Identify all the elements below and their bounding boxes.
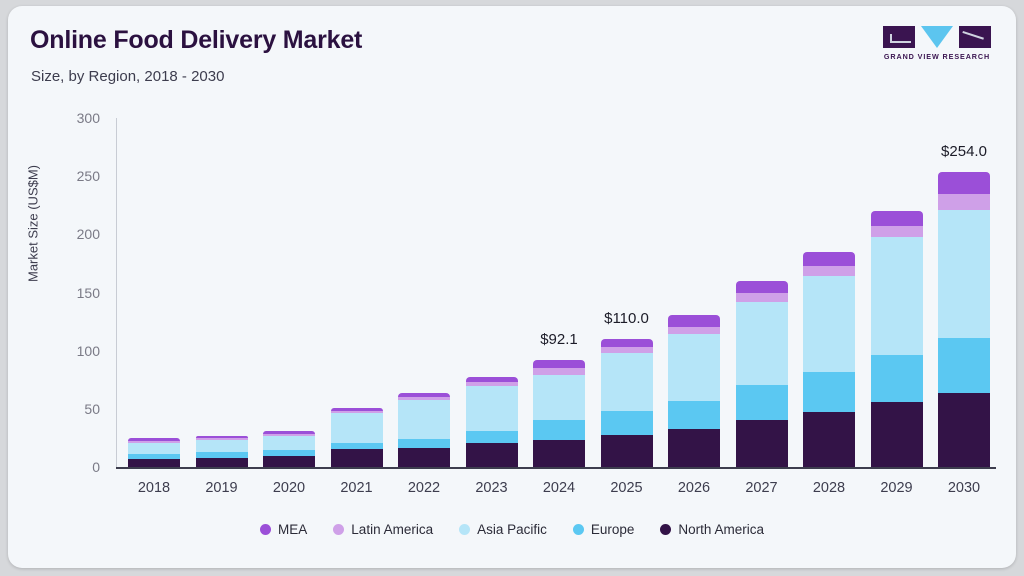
bar-segment-latin-america[interactable] — [803, 266, 855, 276]
y-axis-tick: 250 — [40, 168, 100, 184]
bar-segment-north-america[interactable] — [128, 459, 180, 467]
y-axis-tick: 50 — [40, 401, 100, 417]
legend-label: Europe — [591, 522, 635, 537]
legend-item-asia-pacific[interactable]: Asia Pacific — [459, 522, 547, 537]
bar-stack[interactable] — [601, 6, 653, 467]
bar-stack[interactable] — [736, 6, 788, 467]
bar-segment-mea[interactable] — [331, 408, 383, 411]
bar-segment-north-america[interactable] — [668, 429, 720, 467]
bar-segment-asia-pacific[interactable] — [533, 375, 585, 421]
bar-segment-north-america[interactable] — [601, 435, 653, 467]
x-axis-tick: 2030 — [924, 480, 1004, 496]
bar-segment-north-america[interactable] — [398, 448, 450, 467]
bar-stack[interactable] — [263, 6, 315, 467]
bar-segment-europe[interactable] — [668, 401, 720, 430]
bar-segment-latin-america[interactable] — [601, 347, 653, 353]
bar-stack[interactable] — [398, 6, 450, 467]
legend-label: North America — [678, 522, 764, 537]
bar-segment-asia-pacific[interactable] — [601, 353, 653, 411]
bar-segment-mea[interactable] — [668, 315, 720, 327]
bar-segment-latin-america[interactable] — [871, 226, 923, 237]
bar-segment-asia-pacific[interactable] — [938, 210, 990, 339]
y-axis-line — [116, 118, 117, 467]
bar-segment-europe[interactable] — [331, 443, 383, 449]
legend-swatch-icon — [260, 524, 271, 535]
legend-swatch-icon — [459, 524, 470, 535]
y-axis-tick: 150 — [40, 285, 100, 301]
bar-value-label: $92.1 — [504, 331, 614, 348]
bar-segment-north-america[interactable] — [803, 412, 855, 467]
bar-segment-europe[interactable] — [871, 355, 923, 403]
bar-segment-europe[interactable] — [128, 454, 180, 459]
bar-stack[interactable] — [128, 6, 180, 467]
bar-segment-north-america[interactable] — [263, 456, 315, 467]
bar-segment-latin-america[interactable] — [128, 441, 180, 443]
bar-segment-europe[interactable] — [938, 338, 990, 392]
chart-card: Online Food Delivery Market Size, by Reg… — [8, 6, 1016, 568]
bar-segment-asia-pacific[interactable] — [668, 334, 720, 400]
legend-item-latin-america[interactable]: Latin America — [333, 522, 433, 537]
bar-segment-europe[interactable] — [466, 431, 518, 443]
bar-segment-mea[interactable] — [128, 438, 180, 440]
bar-segment-mea[interactable] — [736, 281, 788, 293]
bar-segment-latin-america[interactable] — [533, 368, 585, 374]
bar-segment-asia-pacific[interactable] — [803, 276, 855, 371]
bar-segment-north-america[interactable] — [736, 420, 788, 467]
bar-segment-mea[interactable] — [466, 377, 518, 382]
bar-segment-asia-pacific[interactable] — [871, 237, 923, 354]
bar-segment-mea[interactable] — [533, 360, 585, 368]
bar-segment-asia-pacific[interactable] — [263, 436, 315, 450]
bar-segment-north-america[interactable] — [331, 449, 383, 467]
bar-segment-latin-america[interactable] — [466, 382, 518, 385]
bar-segment-europe[interactable] — [398, 439, 450, 448]
bar-segment-mea[interactable] — [938, 172, 990, 194]
legend-label: MEA — [278, 522, 307, 537]
bar-segment-north-america[interactable] — [938, 393, 990, 467]
legend-swatch-icon — [573, 524, 584, 535]
bar-segment-asia-pacific[interactable] — [128, 443, 180, 455]
bar-segment-latin-america[interactable] — [196, 438, 248, 440]
legend-label: Asia Pacific — [477, 522, 547, 537]
bar-stack[interactable] — [196, 6, 248, 467]
bar-stack[interactable] — [668, 6, 720, 467]
bar-stack[interactable] — [466, 6, 518, 467]
bar-stack[interactable] — [533, 6, 585, 467]
bar-segment-asia-pacific[interactable] — [736, 302, 788, 385]
bar-chart: Market Size (US$M) 050100150200250300201… — [8, 6, 1016, 568]
bar-segment-europe[interactable] — [601, 411, 653, 435]
bar-segment-europe[interactable] — [803, 372, 855, 412]
y-axis-tick: 0 — [40, 459, 100, 475]
bar-segment-europe[interactable] — [196, 452, 248, 458]
bar-segment-latin-america[interactable] — [331, 411, 383, 413]
bar-segment-europe[interactable] — [263, 450, 315, 456]
legend-item-europe[interactable]: Europe — [573, 522, 635, 537]
bar-segment-asia-pacific[interactable] — [331, 413, 383, 443]
bar-segment-mea[interactable] — [871, 211, 923, 226]
bar-stack[interactable] — [803, 6, 855, 467]
y-axis-label: Market Size (US$M) — [26, 114, 41, 334]
bar-segment-latin-america[interactable] — [263, 434, 315, 436]
bar-segment-latin-america[interactable] — [938, 194, 990, 210]
bar-segment-asia-pacific[interactable] — [398, 400, 450, 439]
bar-segment-europe[interactable] — [533, 420, 585, 439]
y-axis-tick: 300 — [40, 110, 100, 126]
legend-label: Latin America — [351, 522, 433, 537]
bar-segment-north-america[interactable] — [533, 440, 585, 467]
chart-legend: MEALatin AmericaAsia PacificEuropeNorth … — [8, 522, 1016, 537]
bar-segment-asia-pacific[interactable] — [196, 440, 248, 452]
bar-value-label: $254.0 — [909, 143, 1016, 160]
bar-value-label: $110.0 — [572, 310, 682, 327]
bar-segment-latin-america[interactable] — [668, 327, 720, 335]
bar-segment-mea[interactable] — [803, 252, 855, 266]
legend-swatch-icon — [333, 524, 344, 535]
legend-item-north-america[interactable]: North America — [660, 522, 764, 537]
bar-segment-asia-pacific[interactable] — [466, 386, 518, 431]
bar-segment-north-america[interactable] — [871, 402, 923, 467]
y-axis-tick: 200 — [40, 226, 100, 242]
bar-segment-latin-america[interactable] — [736, 293, 788, 302]
bar-segment-europe[interactable] — [736, 385, 788, 420]
bar-stack[interactable] — [331, 6, 383, 467]
bar-segment-mea[interactable] — [398, 393, 450, 397]
bar-segment-north-america[interactable] — [466, 443, 518, 467]
legend-swatch-icon — [660, 524, 671, 535]
x-axis-line — [116, 467, 996, 469]
bar-segment-latin-america[interactable] — [398, 397, 450, 400]
bar-stack[interactable] — [938, 6, 990, 467]
bar-stack[interactable] — [871, 6, 923, 467]
bar-segment-north-america[interactable] — [196, 458, 248, 467]
legend-item-mea[interactable]: MEA — [260, 522, 307, 537]
y-axis-tick: 100 — [40, 343, 100, 359]
bar-segment-mea[interactable] — [601, 339, 653, 347]
bar-segment-mea[interactable] — [263, 431, 315, 434]
